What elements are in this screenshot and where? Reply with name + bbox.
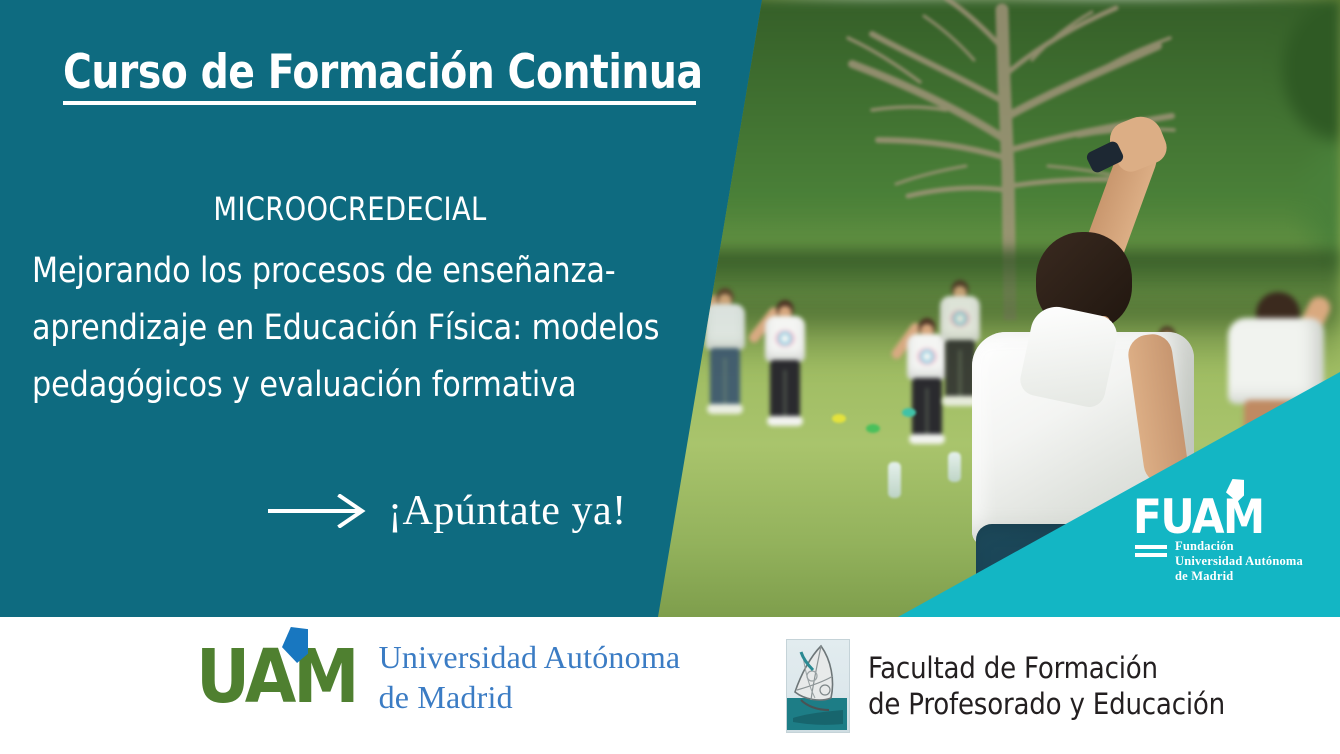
course-subtitle-line: pedagógicos y evaluación formativa: [32, 357, 666, 414]
background-child: [763, 300, 807, 430]
marker-cone: [866, 424, 880, 433]
fuam-subtext-line: de Madrid: [1175, 569, 1303, 584]
uam-subtext-line: de Madrid: [379, 677, 681, 717]
fuam-rule: [1135, 553, 1167, 557]
course-subtitle-line: aprendizaje en Educación Física: modelos: [32, 300, 666, 357]
faculty-subtext: Facultad de Formación de Profesorado y E…: [868, 650, 1225, 722]
title-underline: [63, 101, 696, 105]
teal-background-panel: Curso de Formación Continua MICROOCREDEC…: [0, 0, 1340, 617]
faculty-subtext-line: Facultad de Formación: [868, 650, 1225, 686]
uam-subtext-line: Universidad Autónoma: [379, 637, 681, 677]
background-child: [705, 288, 745, 406]
faculty-logo: Facultad de Formación de Profesorado y E…: [786, 639, 1225, 733]
fuam-subtext-line: Fundación: [1175, 539, 1303, 554]
long-right-arrow-icon: [268, 494, 366, 528]
marker-cone: [902, 408, 916, 417]
fuam-subtext: Fundación Universidad Autónoma de Madrid: [1175, 539, 1303, 584]
course-subtitle-line: Mejorando los procesos de enseñanza-: [32, 243, 666, 300]
fuam-logo: FUAM Fundación Universidad Autónoma de M…: [1133, 495, 1313, 587]
uam-logo: UAM Universidad Autónoma de Madrid: [196, 637, 680, 717]
sail-emblem-icon: [786, 639, 850, 733]
signup-call-to-action[interactable]: ¡Apúntate ya!: [268, 487, 627, 535]
logo-footer-bar: UAM Universidad Autónoma de Madrid: [0, 617, 1340, 754]
promo-banner: Curso de Formación Continua MICROOCREDEC…: [0, 0, 1340, 754]
uam-wordmark-text: UAM: [196, 634, 357, 720]
faculty-subtext-line: de Profesorado y Educación: [868, 686, 1225, 722]
uam-wordmark: UAM: [196, 637, 357, 717]
fuam-rule: [1135, 545, 1167, 549]
uam-subtext: Universidad Autónoma de Madrid: [379, 637, 681, 717]
kicker-label: MICROOCREDECIAL: [18, 190, 683, 228]
fuam-subtext-line: Universidad Autónoma: [1175, 554, 1303, 569]
marker-cone: [832, 414, 846, 423]
page-title: Curso de Formación Continua: [63, 45, 703, 100]
cta-label: ¡Apúntate ya!: [388, 487, 627, 535]
water-bottle: [888, 462, 901, 498]
course-subtitle: Mejorando los procesos de enseñanza- apr…: [32, 243, 666, 414]
fuam-wordmark: FUAM: [1133, 495, 1313, 541]
